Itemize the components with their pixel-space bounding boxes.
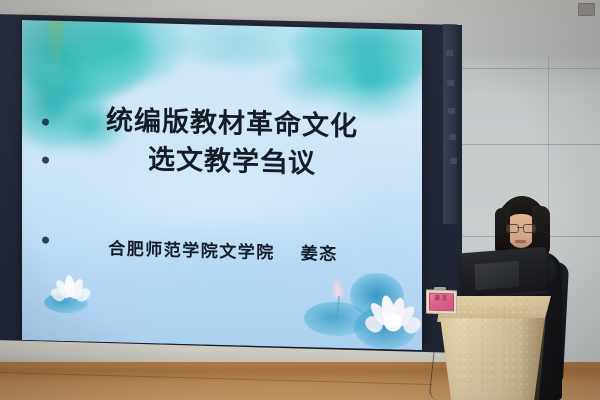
board-button-5[interactable]	[450, 158, 457, 164]
slide-bullet-3	[42, 237, 49, 244]
laptop-screen	[475, 261, 520, 290]
lotus-flower-large-icon	[302, 263, 422, 350]
watercolor-wash-top-left-2	[60, 20, 188, 86]
eyeglasses-icon	[506, 224, 536, 231]
slide-affiliation: 合肥师范学院文学院	[108, 239, 275, 263]
slide-author: 姜忞	[301, 244, 338, 265]
board-button-1[interactable]	[446, 50, 453, 56]
watercolor-wash-top-left	[22, 20, 154, 103]
slide-title-line-1: 统编版教材革命文化	[58, 103, 406, 146]
board-button-3[interactable]	[448, 108, 455, 114]
slide-bullet-2	[42, 157, 49, 164]
lotus-bud-icon	[331, 277, 345, 300]
lecture-hall-photo: 统编版教材革命文化 选文教学刍议 合肥师范学院文学院姜忞	[0, 0, 600, 400]
slide-byline: 合肥师范学院文学院姜忞	[58, 233, 388, 266]
watercolor-drip-streak	[50, 20, 62, 105]
presentation-slide: 统编版教材革命文化 选文教学刍议 合肥师范学院文学院姜忞	[22, 20, 422, 350]
watercolor-wash-top-right-3	[272, 54, 356, 108]
watercolor-wash-top-center	[142, 20, 332, 68]
watercolor-wash-top-right	[290, 20, 422, 93]
lectern-name-sign: 姜忞	[426, 289, 457, 314]
name-sign-text: 姜忞	[427, 290, 456, 313]
slide-grain-overlay	[22, 20, 422, 350]
presenter-mouth	[515, 240, 526, 243]
board-button-4[interactable]	[449, 134, 456, 140]
slide-bullet-1	[42, 119, 49, 126]
projection-screen: 统编版教材革命文化 选文教学刍议 合肥师范学院文学院姜忞	[22, 20, 422, 350]
lotus-flower-small-icon	[44, 273, 102, 318]
slide-title-line-2: 选文教学刍议	[58, 141, 406, 184]
watercolor-haze-bottom	[32, 256, 412, 336]
board-button-2[interactable]	[447, 80, 454, 86]
wall-mount-bracket	[578, 3, 595, 16]
